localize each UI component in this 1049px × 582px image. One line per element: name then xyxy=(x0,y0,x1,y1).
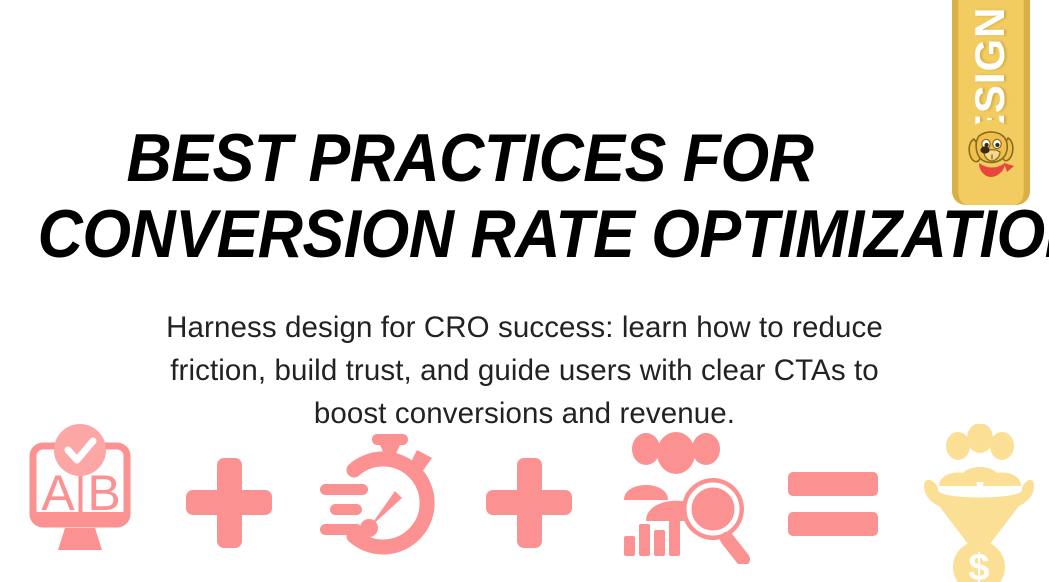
svg-text:$: $ xyxy=(968,547,989,582)
page-title-line-2: CONVERSION RATE OPTIMIZATION xyxy=(38,196,903,272)
page-title: BEST PRACTICES FOR CONVERSION RATE OPTIM… xyxy=(38,120,903,272)
plus-operator-1 xyxy=(186,424,272,582)
dog-mascot-icon xyxy=(961,119,1021,179)
conversion-funnel-icon: $ xyxy=(918,424,1040,582)
plus-operator-2 xyxy=(486,424,572,582)
svg-text:B: B xyxy=(87,465,120,521)
page-subtitle-line-2: friction, build trust, and guide users w… xyxy=(76,349,973,392)
page-title-line-1: BEST PRACTICES FOR xyxy=(38,120,903,196)
audience-insights-icon xyxy=(614,424,764,582)
brand-badge: DESIGN xyxy=(952,0,1030,205)
page-subtitle-line-1: Harness design for CRO success: learn ho… xyxy=(76,306,973,349)
equals-operator xyxy=(788,424,878,582)
fast-stopwatch-icon xyxy=(312,424,458,582)
icon-equation-row: A B xyxy=(0,424,1049,582)
ab-test-monitor-icon: A B xyxy=(18,424,142,582)
page-subtitle: Harness design for CRO success: learn ho… xyxy=(76,306,973,435)
